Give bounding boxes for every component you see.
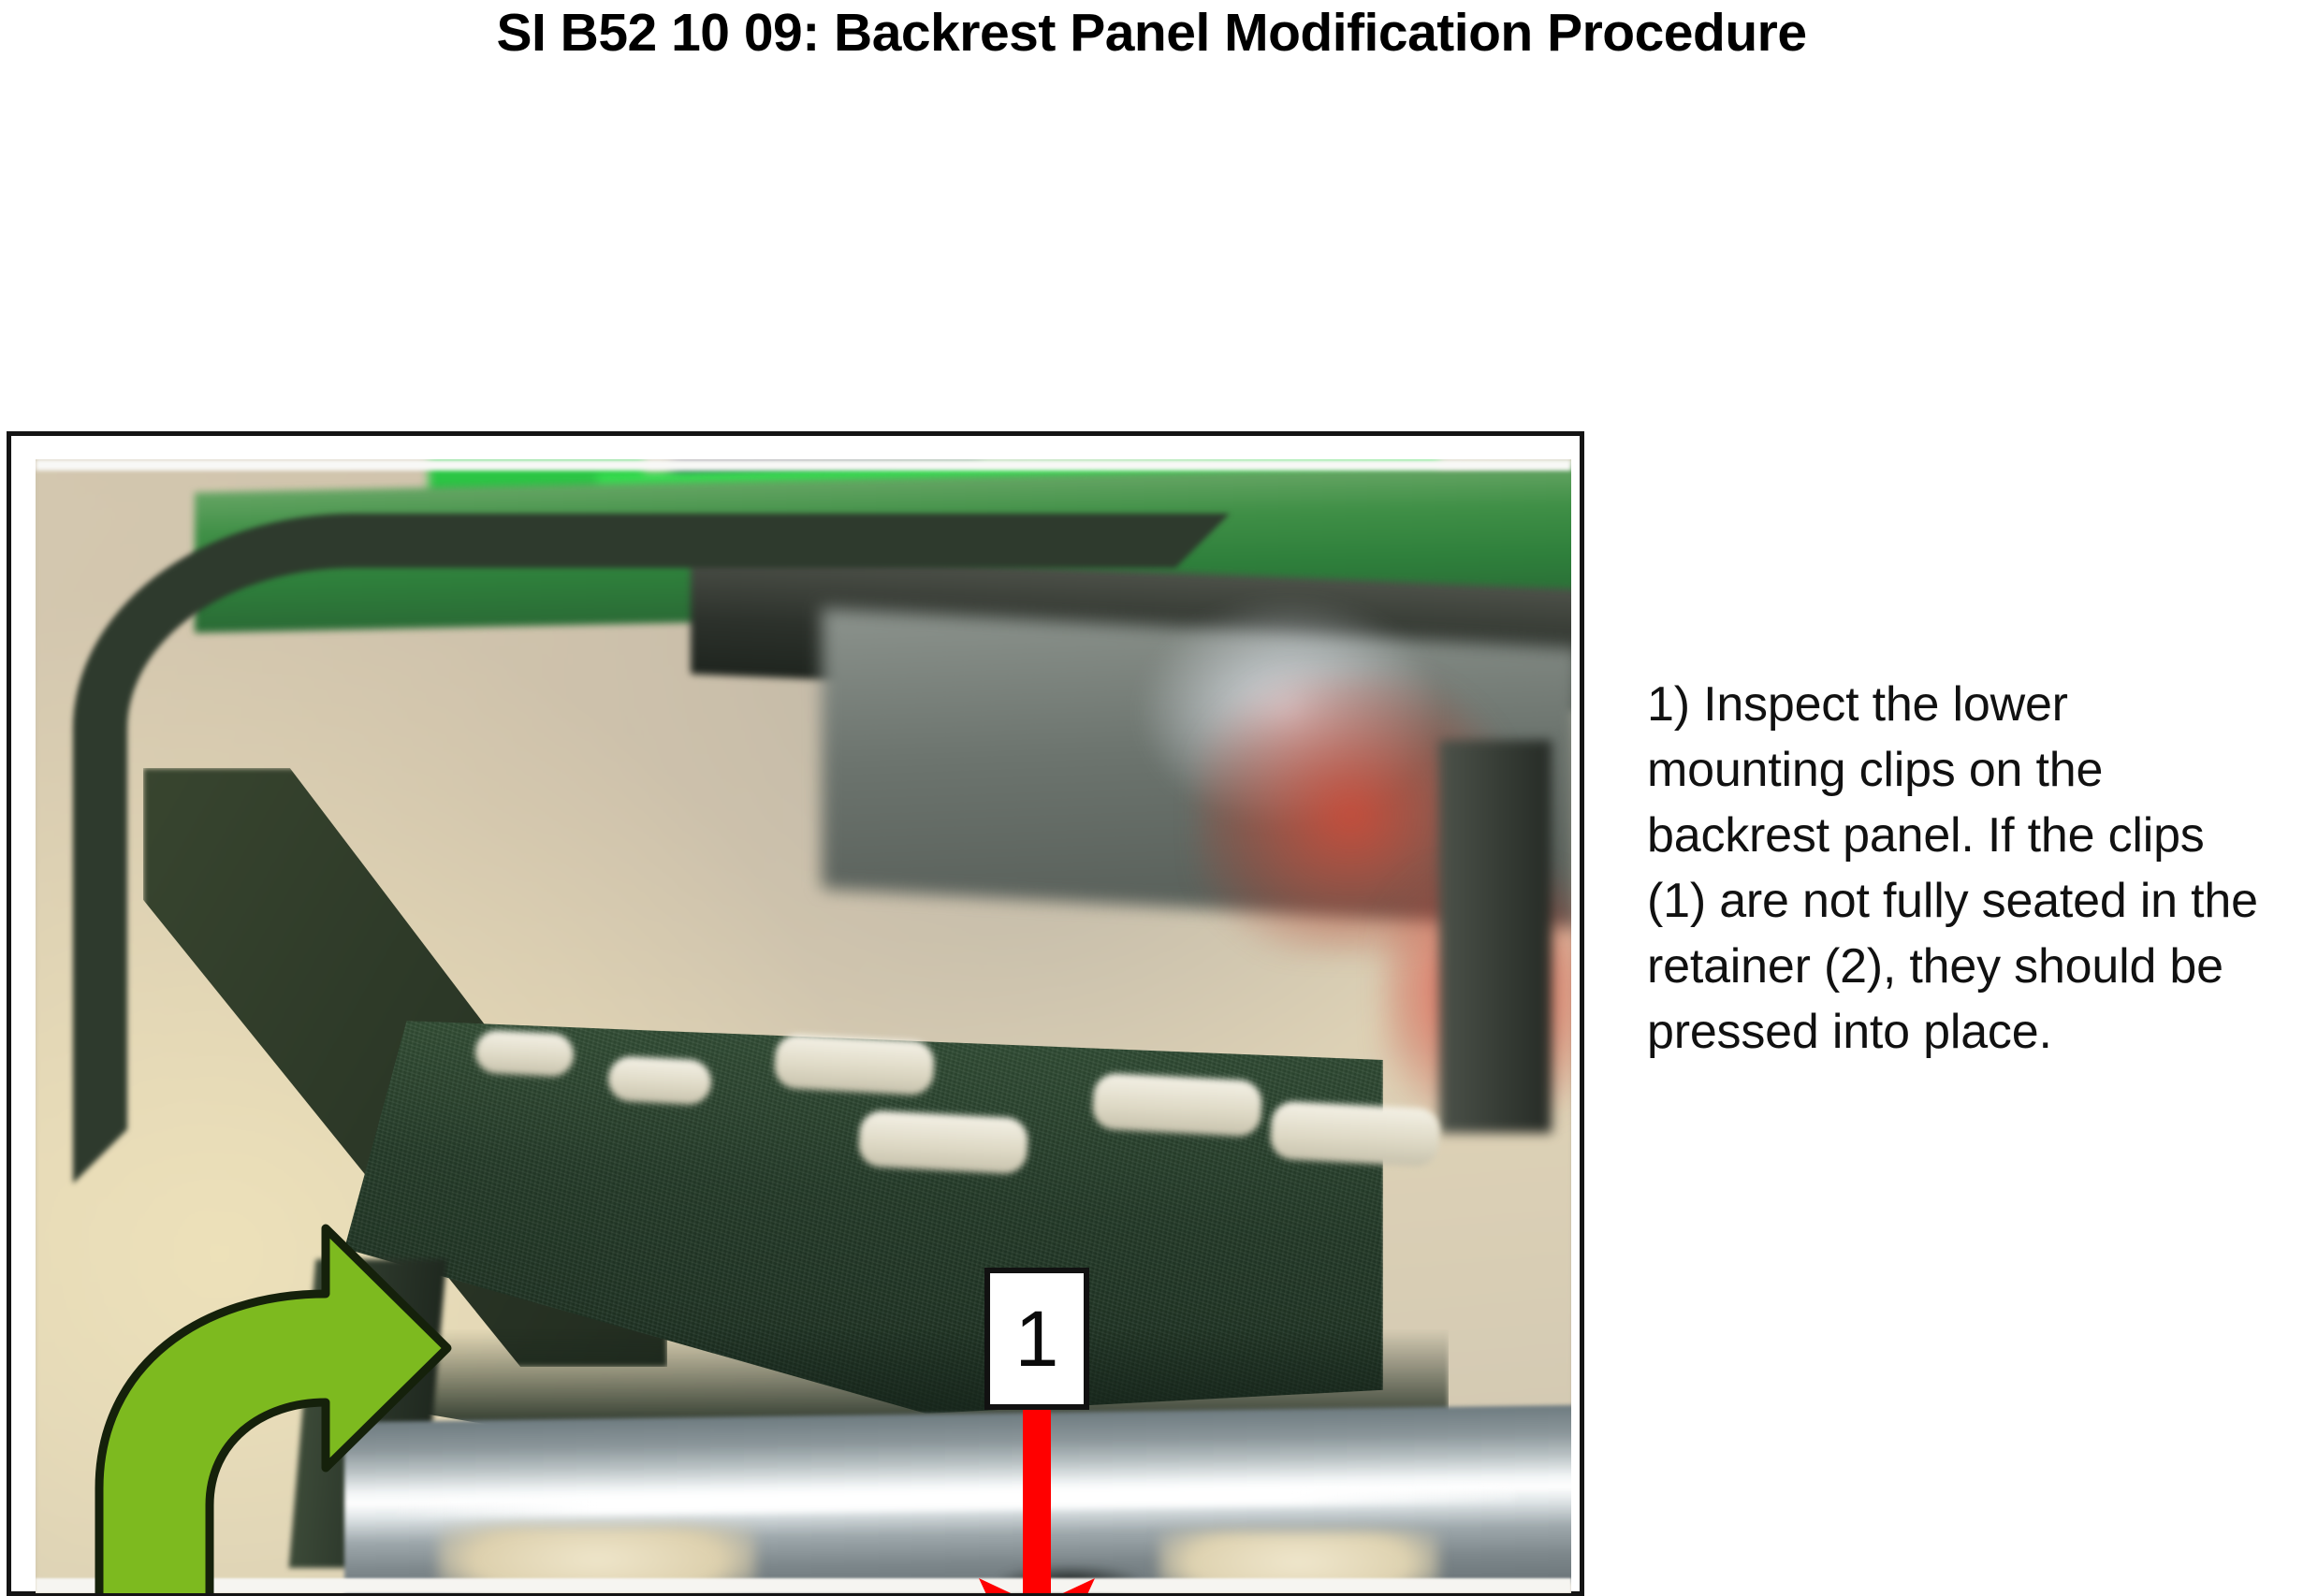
photo-panel-slot bbox=[1092, 1072, 1263, 1137]
photo-panel-slot bbox=[1270, 1100, 1441, 1167]
procedure-photo: 1 2 bbox=[36, 459, 1571, 1593]
green-curved-arrow-icon bbox=[45, 1208, 457, 1593]
photo-panel-slot bbox=[474, 1029, 575, 1077]
photo-panel-slot bbox=[774, 1034, 936, 1096]
photo-panel-slot bbox=[607, 1055, 712, 1106]
photo-dark-post-right bbox=[1439, 740, 1552, 1133]
page-title: SI B52 10 09: Backrest Panel Modificatio… bbox=[0, 2, 2303, 64]
photo-top-haze bbox=[36, 459, 1571, 471]
instruction-step-text: 1) Inspect the lower mounting clips on t… bbox=[1647, 672, 2265, 1065]
red-down-arrow-icon bbox=[971, 1395, 1102, 1593]
callout-box-1: 1 bbox=[984, 1268, 1089, 1410]
figure-frame: 1 2 bbox=[7, 431, 1584, 1596]
photo-panel-slot bbox=[858, 1110, 1029, 1174]
